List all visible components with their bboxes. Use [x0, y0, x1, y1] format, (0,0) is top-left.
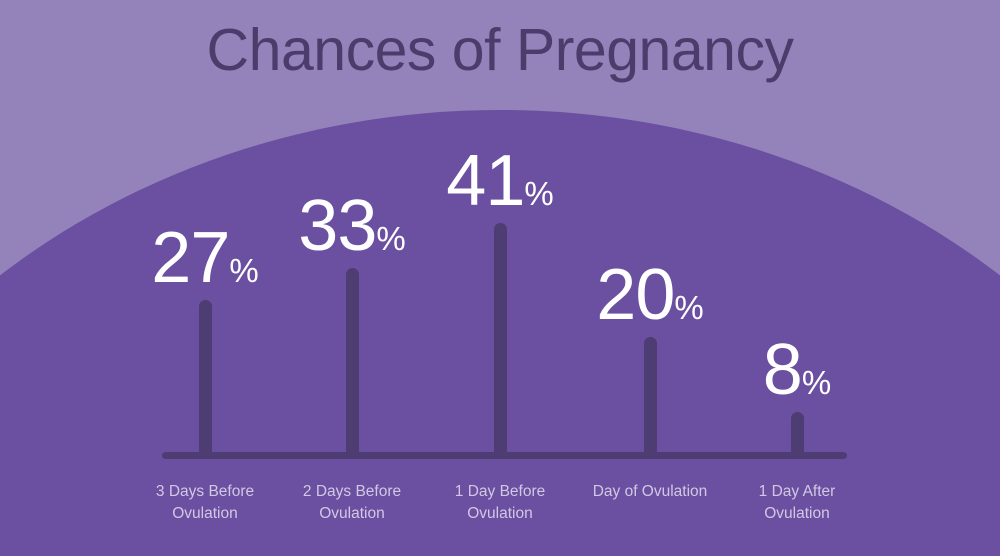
bar-category-label-4: 1 Day After Ovulation	[702, 481, 892, 525]
bar-value-percent-2: %	[524, 175, 553, 212]
bar-value-number-2: 41	[446, 141, 524, 221]
bar-chart-plot: 27% 3 Days Before Ovulation 33% 2 Days B…	[0, 0, 1000, 556]
bar-value-3: 20%	[596, 259, 703, 331]
axis-baseline	[162, 452, 847, 459]
bar-value-percent-4: %	[802, 364, 831, 401]
bar-value-number-0: 27	[151, 218, 229, 298]
bar-2	[494, 223, 507, 456]
bar-value-percent-1: %	[376, 220, 405, 257]
bar-value-1: 33%	[298, 190, 405, 262]
bar-value-number-1: 33	[298, 186, 376, 266]
bar-4	[791, 412, 804, 456]
bar-value-percent-0: %	[229, 252, 258, 289]
bar-value-0: 27%	[151, 222, 258, 294]
bar-value-number-3: 20	[596, 255, 674, 335]
bar-value-2: 41%	[446, 145, 553, 217]
bar-1	[346, 268, 359, 456]
bar-3	[644, 337, 657, 456]
infographic-canvas: Chances of Pregnancy 27% 3 Days Before O…	[0, 0, 1000, 556]
bar-value-number-4: 8	[763, 330, 802, 410]
bar-value-4: 8%	[763, 334, 831, 406]
bar-group-4: 8% 1 Day After Ovulation	[702, 0, 892, 556]
bar-0	[199, 300, 212, 456]
bar-value-percent-3: %	[674, 289, 703, 326]
